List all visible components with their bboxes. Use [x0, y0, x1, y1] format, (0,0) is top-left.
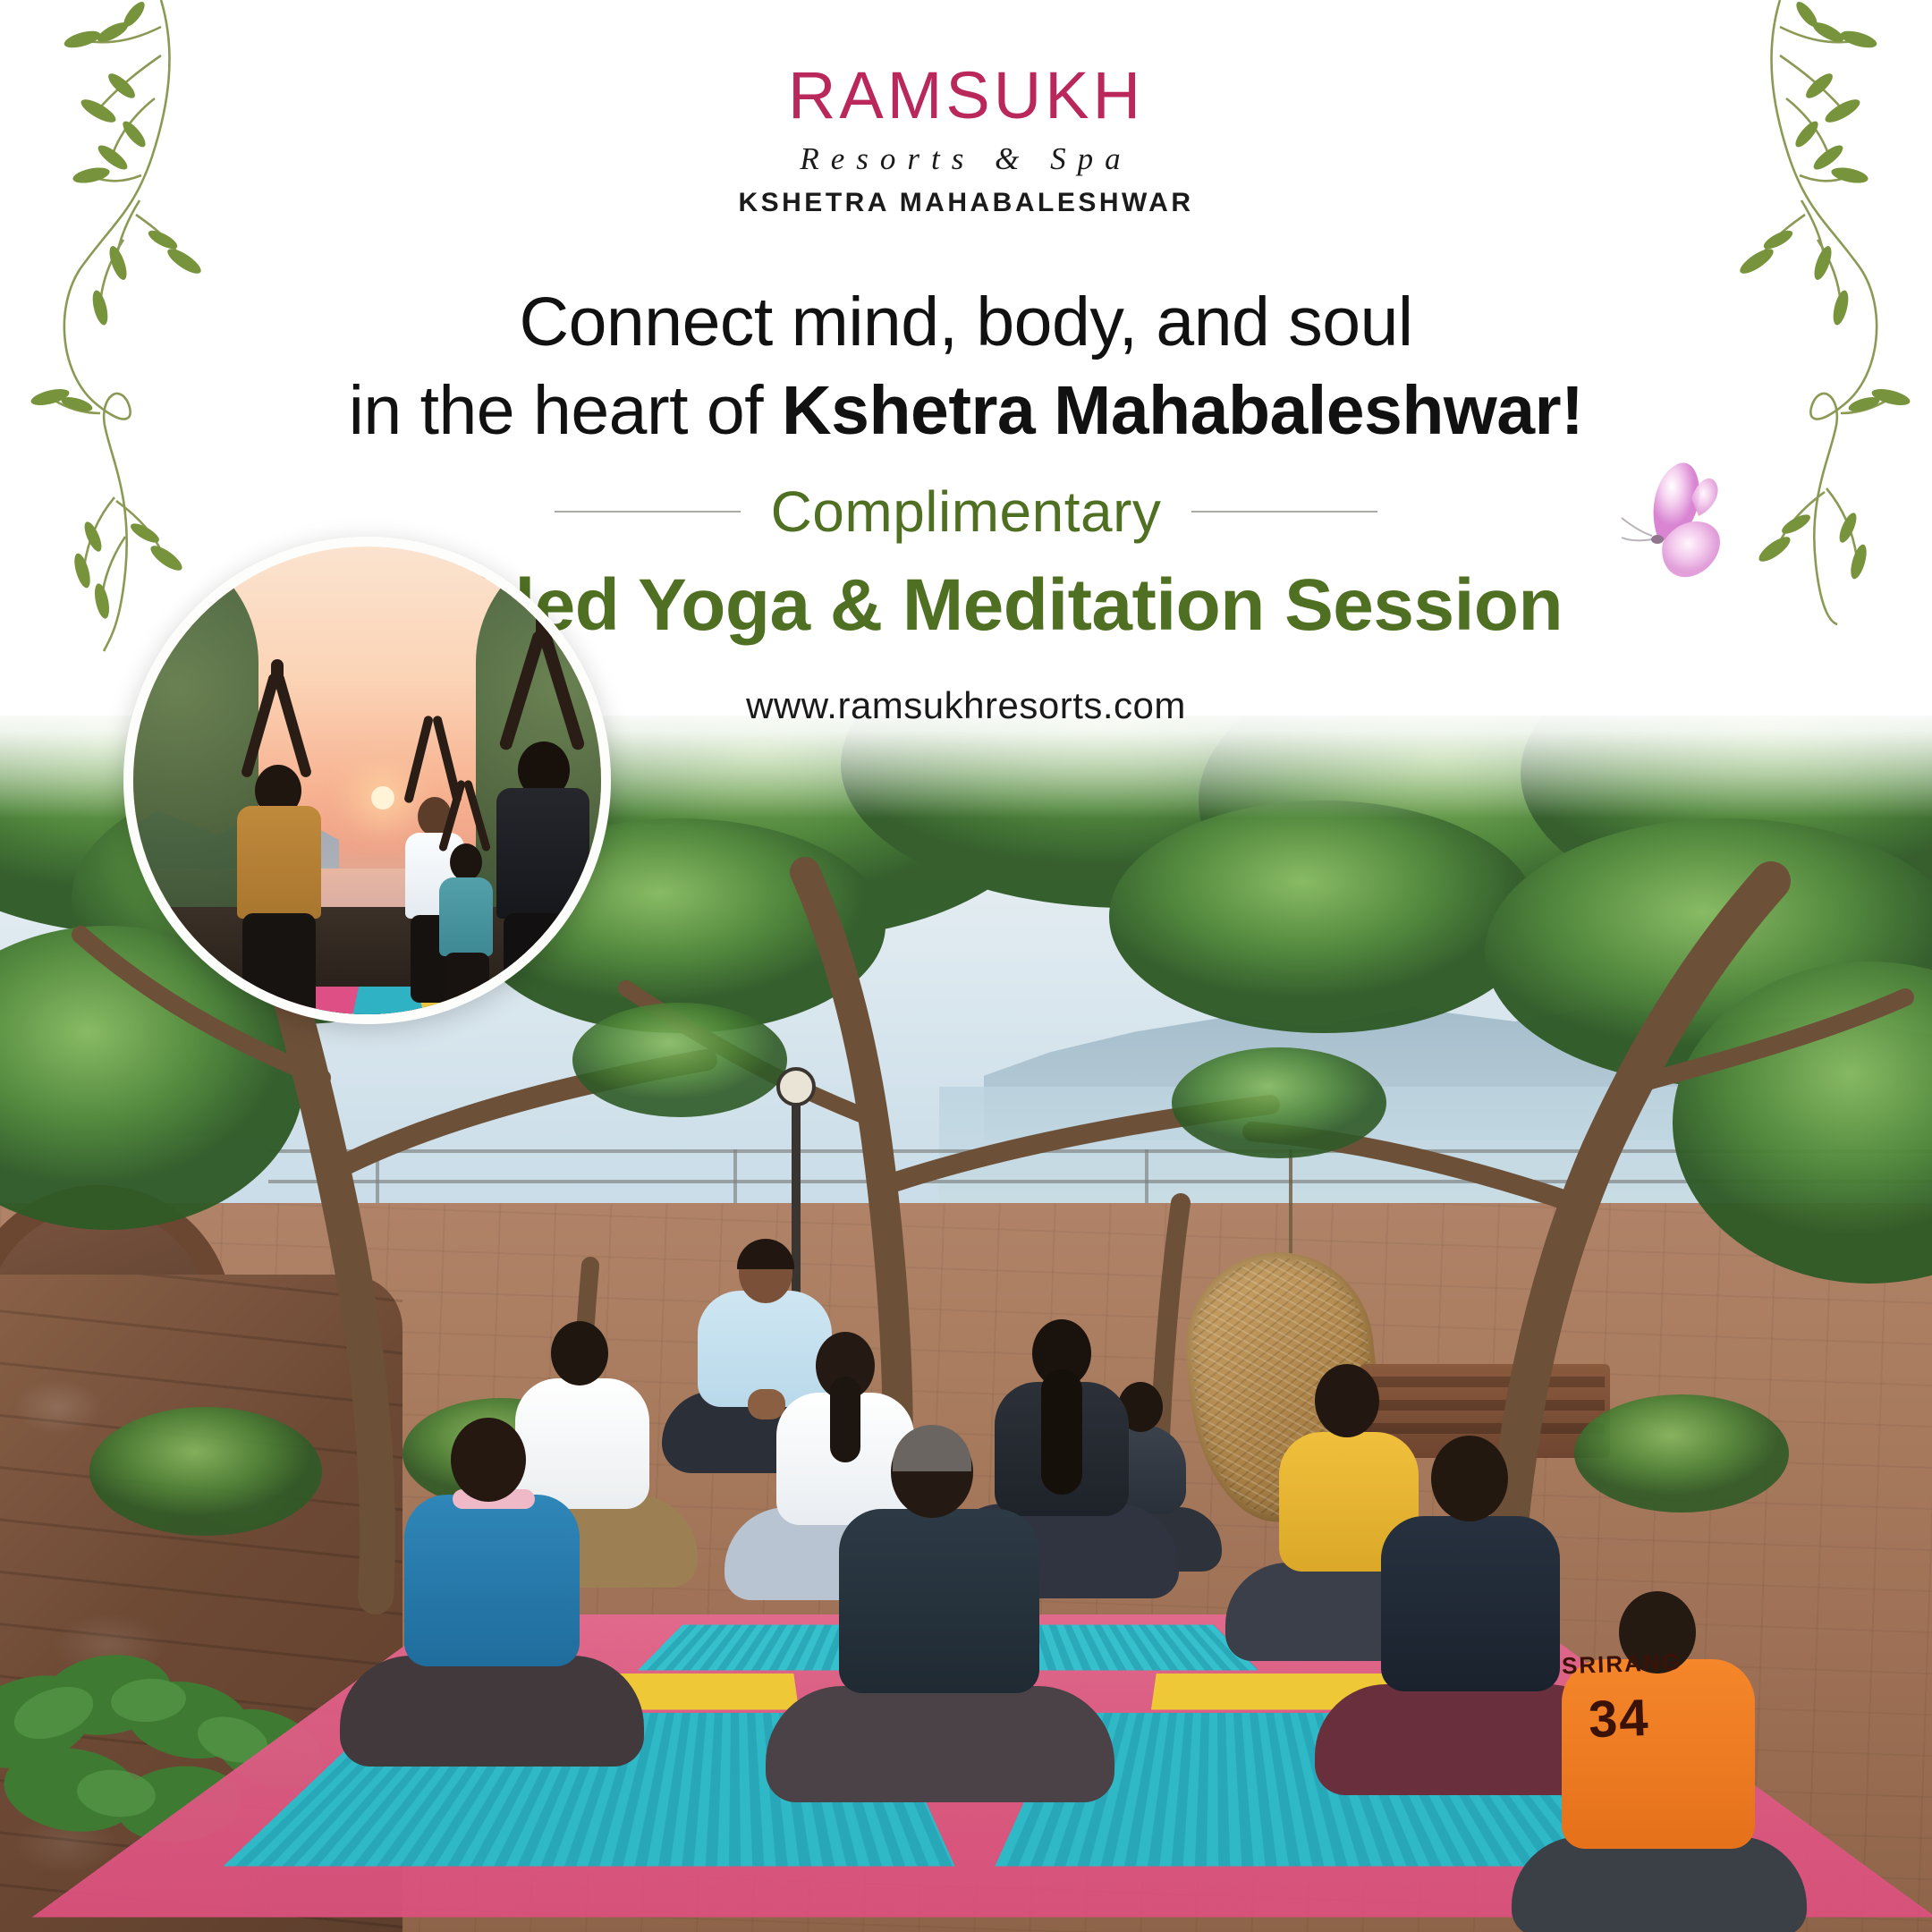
poster-canvas: RAMSUKH Resorts & Spa KSHETRA MAHABALESH… — [0, 0, 1932, 1932]
jersey-number-text: 34 — [1588, 1688, 1651, 1750]
brand-tagline: Resorts & Spa — [0, 141, 1932, 177]
offer-eyebrow: Complimentary — [771, 483, 1162, 540]
inset-yogi-dark — [484, 722, 600, 1017]
jersey-name-text: SRIRANG — [1561, 1648, 1682, 1681]
divider-left — [555, 511, 741, 513]
divider-right — [1191, 511, 1377, 513]
participant-dark-teal-center — [787, 1427, 1091, 1802]
butterfly-icon — [1606, 443, 1758, 595]
headline-block: Connect mind, body, and soul in the hear… — [0, 282, 1932, 452]
headline-line-2-prefix: in the heart of — [349, 372, 782, 449]
brand-name: RAMSUKH — [788, 63, 1144, 129]
inset-yogi-mustard — [219, 750, 335, 1019]
headline-line-2: in the heart of Kshetra Mahabaleshwar! — [0, 370, 1932, 452]
headline-line-1: Connect mind, body, and soul — [0, 282, 1932, 363]
inset-sun — [371, 786, 394, 809]
brand-logo: RAMSUKH Resorts & Spa KSHETRA MAHABALESH… — [0, 63, 1932, 218]
participant-orange-jersey — [1521, 1597, 1789, 1932]
lamp-globe — [776, 1067, 816, 1106]
headline-line-2-emphasis: Kshetra Mahabaleshwar! — [782, 372, 1583, 449]
circular-inset-photo — [123, 537, 611, 1024]
brand-location: KSHETRA MAHABALESHWAR — [0, 188, 1932, 218]
participant-blue-shirt — [358, 1418, 626, 1767]
